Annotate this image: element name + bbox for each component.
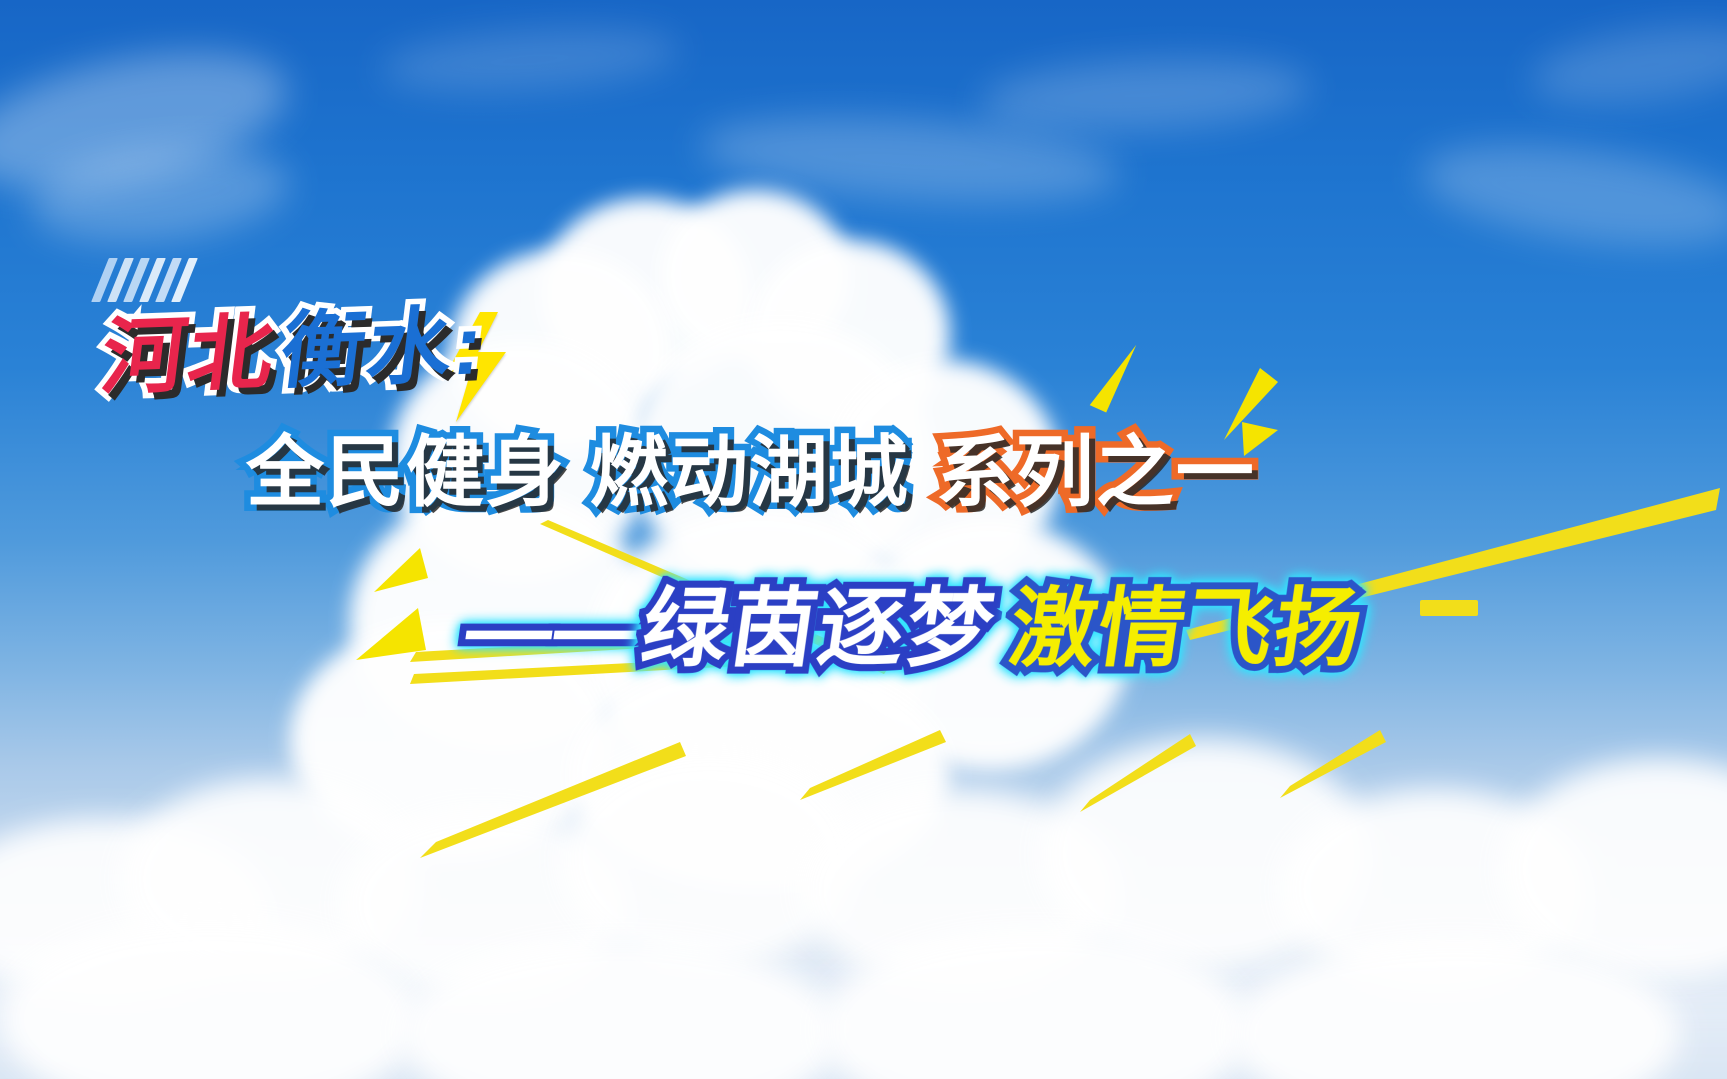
title-line1-blue: 衡水: bbox=[274, 277, 492, 405]
title-line-1: 河北衡水: bbox=[96, 277, 493, 411]
title-line-2: 全民健身 燃动湖城系列之一 bbox=[246, 410, 1256, 522]
title-line1-red: 河北 bbox=[96, 285, 284, 412]
title-line3-white: 绿茵逐梦 bbox=[635, 558, 1005, 683]
title-line-3: ——绿茵逐梦激情飞扬 bbox=[459, 558, 1373, 683]
video-thumbnail: 河北衡水: 全民健身 燃动湖城系列之一 ——绿茵逐梦激情飞扬 bbox=[0, 0, 1727, 1079]
title-overlay: 河北衡水: 全民健身 燃动湖城系列之一 ——绿茵逐梦激情飞扬 bbox=[0, 0, 1727, 1079]
title-line2-segment-2: 燃动湖城 bbox=[590, 410, 910, 522]
title-line2-segment-1: 全民健身 bbox=[246, 410, 566, 522]
title-line3-yellow: 激情飞扬 bbox=[1003, 558, 1373, 683]
title-line3-dashes: —— bbox=[460, 580, 650, 679]
title-line2-segment-3: 系列之一 bbox=[936, 410, 1256, 522]
